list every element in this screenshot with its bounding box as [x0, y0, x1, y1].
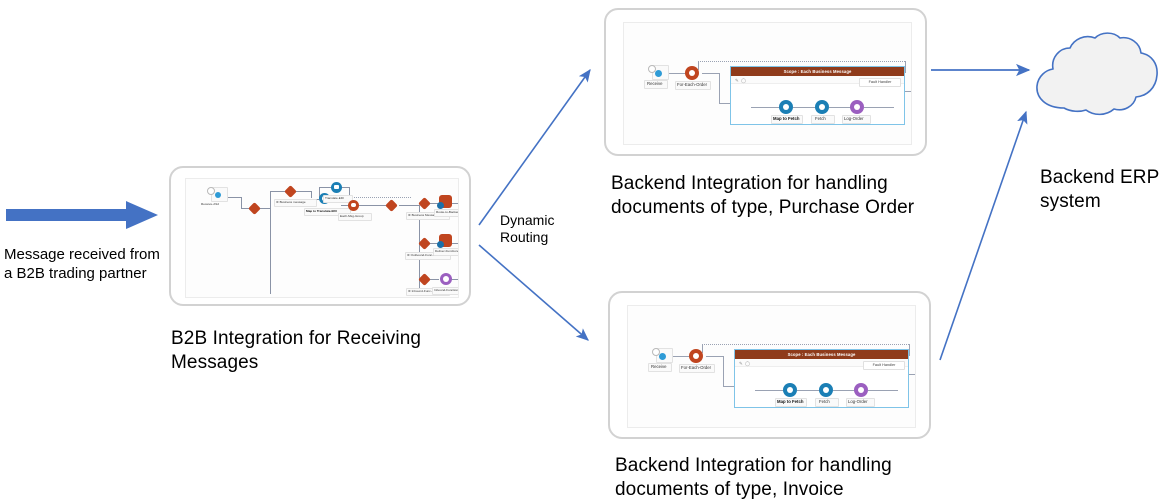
invoice-screen: Receive For-Each-Order Scope : Each Busi…	[627, 305, 916, 428]
po-label-log-order: Log-Order	[844, 116, 864, 121]
diagram-canvas: Message received from a B2B trading part…	[0, 0, 1168, 499]
po-label-receive: Receive	[647, 81, 663, 86]
routing-arrows	[470, 55, 615, 355]
inv-label-receive: Receive	[651, 364, 667, 369]
b2b-integration-caption: B2B Integration for Receiving Messages	[171, 327, 461, 375]
b2b-node-switch-1[interactable]	[248, 202, 261, 215]
inbound-message-arrow	[6, 198, 166, 232]
b2b-label-map-translate-edi: Map to Translate-EDI	[306, 209, 337, 213]
po-label-fetch: Fetch	[815, 116, 826, 121]
b2b-label-if-business-message: IF Business message	[276, 200, 306, 204]
backend-erp-caption: Backend ERP system	[1040, 166, 1166, 214]
b2b-node-if-business-message[interactable]	[284, 185, 297, 198]
b2b-node-switch-2[interactable]	[385, 199, 398, 212]
po-fault-handler[interactable]: Fault Handler	[859, 78, 901, 87]
inv-label-for-each-order: For-Each-Order	[681, 365, 711, 370]
backend-erp-cloud[interactable]	[1026, 30, 1162, 122]
po-scope-each-business-message: Scope : Each Business Message ✎ ◯ Fault …	[730, 66, 905, 125]
inv-label-map-to-fetch: Map to Fetch	[777, 399, 804, 404]
po-label-for-each-order: For-Each-Order	[677, 82, 707, 87]
purchase-order-caption: Backend Integration for handling documen…	[611, 172, 951, 220]
b2b-integration-screen: Receive-AS2 IF Business message Map to T…	[185, 178, 459, 298]
purchase-order-screen: Receive For-Each-Order Scope : Each Busi…	[623, 22, 912, 145]
b2b-label-inbound-functional: Inbound-Functional-... Fin	[434, 288, 459, 292]
b2b-node-if-outbound-func-ack[interactable]	[418, 237, 431, 250]
dynamic-routing-label: Dynamic Routing	[500, 212, 580, 246]
b2b-node-if-inbound-func-ack[interactable]	[418, 273, 431, 286]
b2b-label-translate-edi: Translate-EDI	[325, 196, 344, 200]
po-scope-title: Scope : Each Business Message	[731, 67, 904, 76]
b2b-label-deliver-functional-ack: Deliver-Functional-Ack	[435, 249, 459, 253]
arrow-b2b-to-purchase-order	[479, 70, 590, 225]
inbound-message-label: Message received from a B2B trading part…	[4, 245, 179, 283]
inv-scope-title: Scope : Each Business Message	[735, 350, 908, 359]
invoice-caption: Backend Integration for handling documen…	[615, 454, 955, 502]
b2b-label-receive-as2: Receive-AS2	[201, 202, 219, 206]
b2b-integration-device[interactable]: Receive-AS2 IF Business message Map to T…	[169, 166, 471, 306]
inv-scope-each-business-message: Scope : Each Business Message ✎ ◯ Fault …	[734, 349, 909, 408]
po-label-map-to-fetch: Map to Fetch	[773, 116, 800, 121]
arrow-invoice-to-erp	[940, 112, 1026, 360]
inv-label-log-order: Log-Order	[848, 399, 868, 404]
invoice-integration-device[interactable]: Receive For-Each-Order Scope : Each Busi…	[608, 291, 931, 439]
b2b-node-if-business-message-2[interactable]	[418, 197, 431, 210]
b2b-label-route-to-backend: Route-to-Backend-Intg ...	[436, 210, 459, 214]
purchase-order-integration-device[interactable]: Receive For-Each-Order Scope : Each Busi…	[604, 8, 927, 156]
inv-fault-handler[interactable]: Fault Handler	[863, 361, 905, 370]
inv-label-fetch: Fetch	[819, 399, 830, 404]
b2b-label-each-msg-group: Each-Msg-Group	[340, 214, 364, 218]
arrow-b2b-to-invoice	[479, 245, 588, 340]
